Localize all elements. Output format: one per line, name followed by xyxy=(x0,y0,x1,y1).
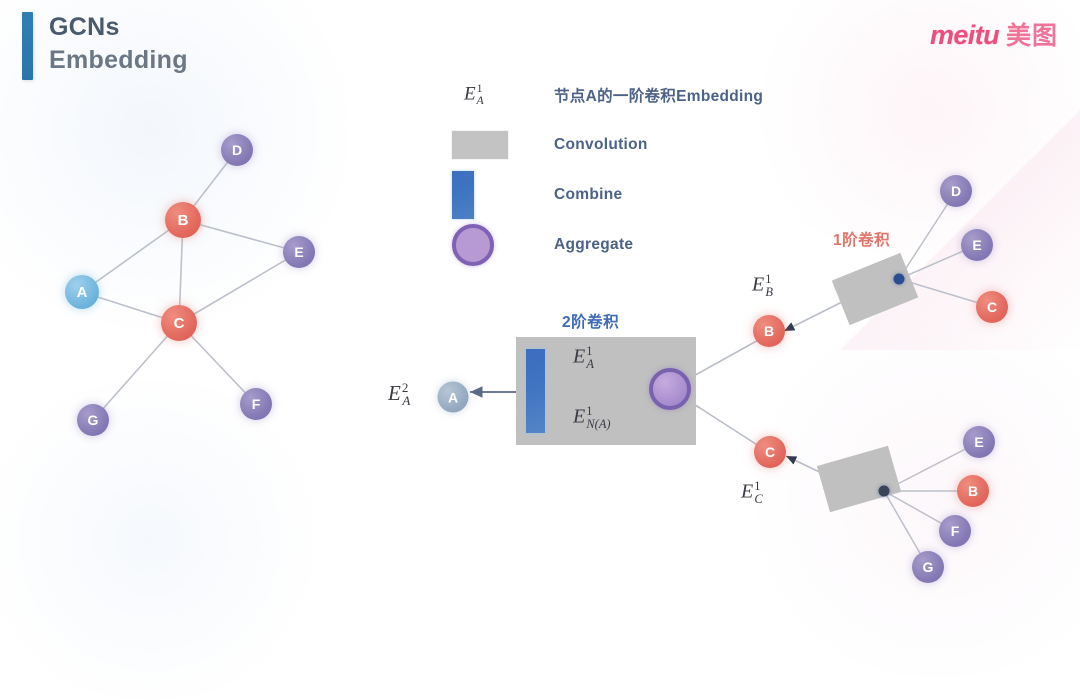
node-B-center: B xyxy=(753,315,785,347)
graph-node-G: G xyxy=(77,404,109,436)
legend: E1A 节点A的一阶卷积Embedding Convolution Combin… xyxy=(452,70,763,270)
brand-logo: meitu 美图 xyxy=(930,16,1058,52)
embedding-formula-symbol: E1A xyxy=(452,82,484,108)
bottom-neighbor-node-B: B xyxy=(957,475,989,507)
gray-rectangle-icon xyxy=(452,131,508,159)
bottom-neighbor-node-E: E xyxy=(963,426,995,458)
legend-item-convolution: Convolution xyxy=(452,120,763,170)
slide-canvas: GCNs Embedding meitu 美图 E1A 节点A的一阶卷积Embe… xyxy=(0,0,1080,608)
conv-output-dot-top xyxy=(894,274,905,285)
output-node-A: A xyxy=(438,382,469,413)
legend-label-convolution: Convolution xyxy=(554,136,648,154)
logo-english-text: meitu xyxy=(930,20,999,51)
formula-EB1: E1B xyxy=(752,272,773,300)
graph-node-A: A xyxy=(65,275,99,309)
background-wash-bottom-left xyxy=(0,380,340,700)
bottom-neighbor-node-F: F xyxy=(939,515,971,547)
top-neighbor-node-C: C xyxy=(976,291,1008,323)
logo-chinese-text: 美图 xyxy=(1006,16,1058,52)
output-embedding-formula: E2A xyxy=(388,380,410,409)
formula-EC1: E1C xyxy=(741,479,763,507)
purple-circle-icon xyxy=(452,224,494,266)
legend-swatch-combine xyxy=(452,171,514,219)
aggregate-node-icon xyxy=(649,368,691,410)
header-accent-bar xyxy=(22,12,33,80)
node-C-center: C xyxy=(754,436,786,468)
page-subtitle: Embedding xyxy=(49,45,188,76)
legend-label-aggregate: Aggregate xyxy=(554,236,633,254)
top-neighbor-node-D: D xyxy=(940,175,972,207)
legend-swatch-formula: E1A xyxy=(452,82,514,108)
inner-label-ENA1: E1N(A) xyxy=(573,404,611,432)
bottom-neighbor-node-G: G xyxy=(912,551,944,583)
legend-swatch-aggregate xyxy=(452,224,514,266)
first-order-conv-box-bottom xyxy=(817,446,901,513)
graph-edge xyxy=(93,323,179,420)
graph-node-E: E xyxy=(283,236,315,268)
graph-node-D: D xyxy=(221,134,253,166)
legend-item-combine: Combine xyxy=(452,170,763,220)
graph-edge xyxy=(183,220,299,252)
graph-node-F: F xyxy=(240,388,272,420)
legend-item-aggregate: Aggregate xyxy=(452,220,763,270)
legend-label-combine: Combine xyxy=(554,186,622,204)
legend-item-embedding: E1A 节点A的一阶卷积Embedding xyxy=(452,70,763,120)
graph-edge xyxy=(179,252,299,323)
graph-node-C: C xyxy=(161,305,197,341)
second-order-conv-title: 2阶卷积 xyxy=(562,310,619,332)
inner-label-EA1: E1A xyxy=(573,344,594,372)
first-order-conv-title: 1阶卷积 xyxy=(833,228,890,250)
combine-bar xyxy=(526,349,545,433)
slide-header: GCNs Embedding xyxy=(22,12,188,80)
background-wash-bottom-right xyxy=(740,318,1080,678)
first-order-conv-box-top xyxy=(832,253,919,325)
page-title: GCNs xyxy=(49,12,188,43)
legend-label-embedding: 节点A的一阶卷积Embedding xyxy=(554,84,763,106)
blue-bar-icon xyxy=(452,171,474,219)
graph-node-B: B xyxy=(165,202,201,238)
top-neighbor-node-E: E xyxy=(961,229,993,261)
conv-output-dot-bottom xyxy=(879,486,890,497)
legend-swatch-convolution xyxy=(452,131,514,159)
